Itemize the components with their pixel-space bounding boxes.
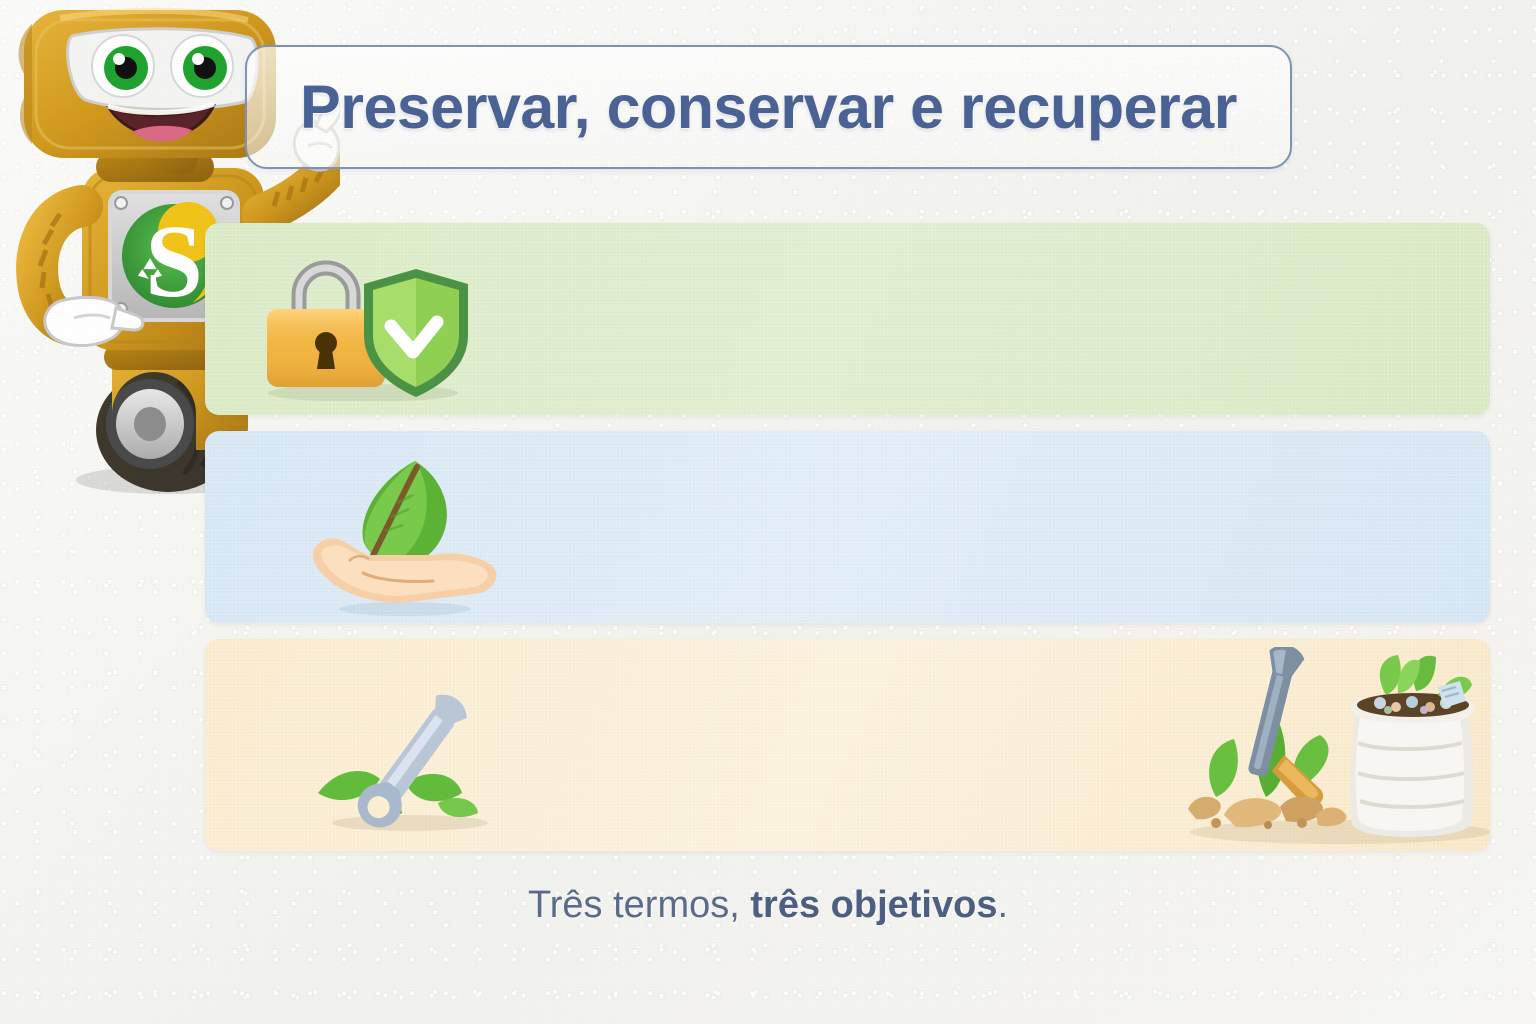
robot-eyes	[68, 29, 258, 110]
soil-restoration-sack-art	[1180, 647, 1490, 847]
caption-bold: três objetivos	[750, 884, 997, 926]
caption-regular: Três termos,	[528, 884, 750, 926]
caption-end: .	[997, 884, 1008, 926]
wrench-leaves-art	[310, 687, 520, 837]
page-title: Preservar, conservar e recuperar	[300, 72, 1237, 142]
title-box: Preservar, conservar e recuperar	[245, 45, 1292, 169]
badge-letter: S	[145, 204, 203, 319]
rocks-icon	[1188, 796, 1347, 829]
hand-holding-leaf-art	[305, 451, 505, 621]
robot-head	[19, 10, 276, 174]
padlock-shield-art	[253, 251, 483, 401]
leaf-icon	[363, 461, 447, 567]
row-preservar: Preservar = proteger sem usar	[205, 223, 1490, 415]
sack-icon	[1350, 655, 1474, 837]
row-recuperar: Recuperar = corrigir dano	[205, 639, 1490, 851]
slide-canvas: Preservar, conservar e recuperar	[0, 0, 1536, 1024]
row-conservar: Conservar = usar com regras	[205, 431, 1490, 623]
caption: Três termos, três objetivos.	[0, 884, 1536, 927]
